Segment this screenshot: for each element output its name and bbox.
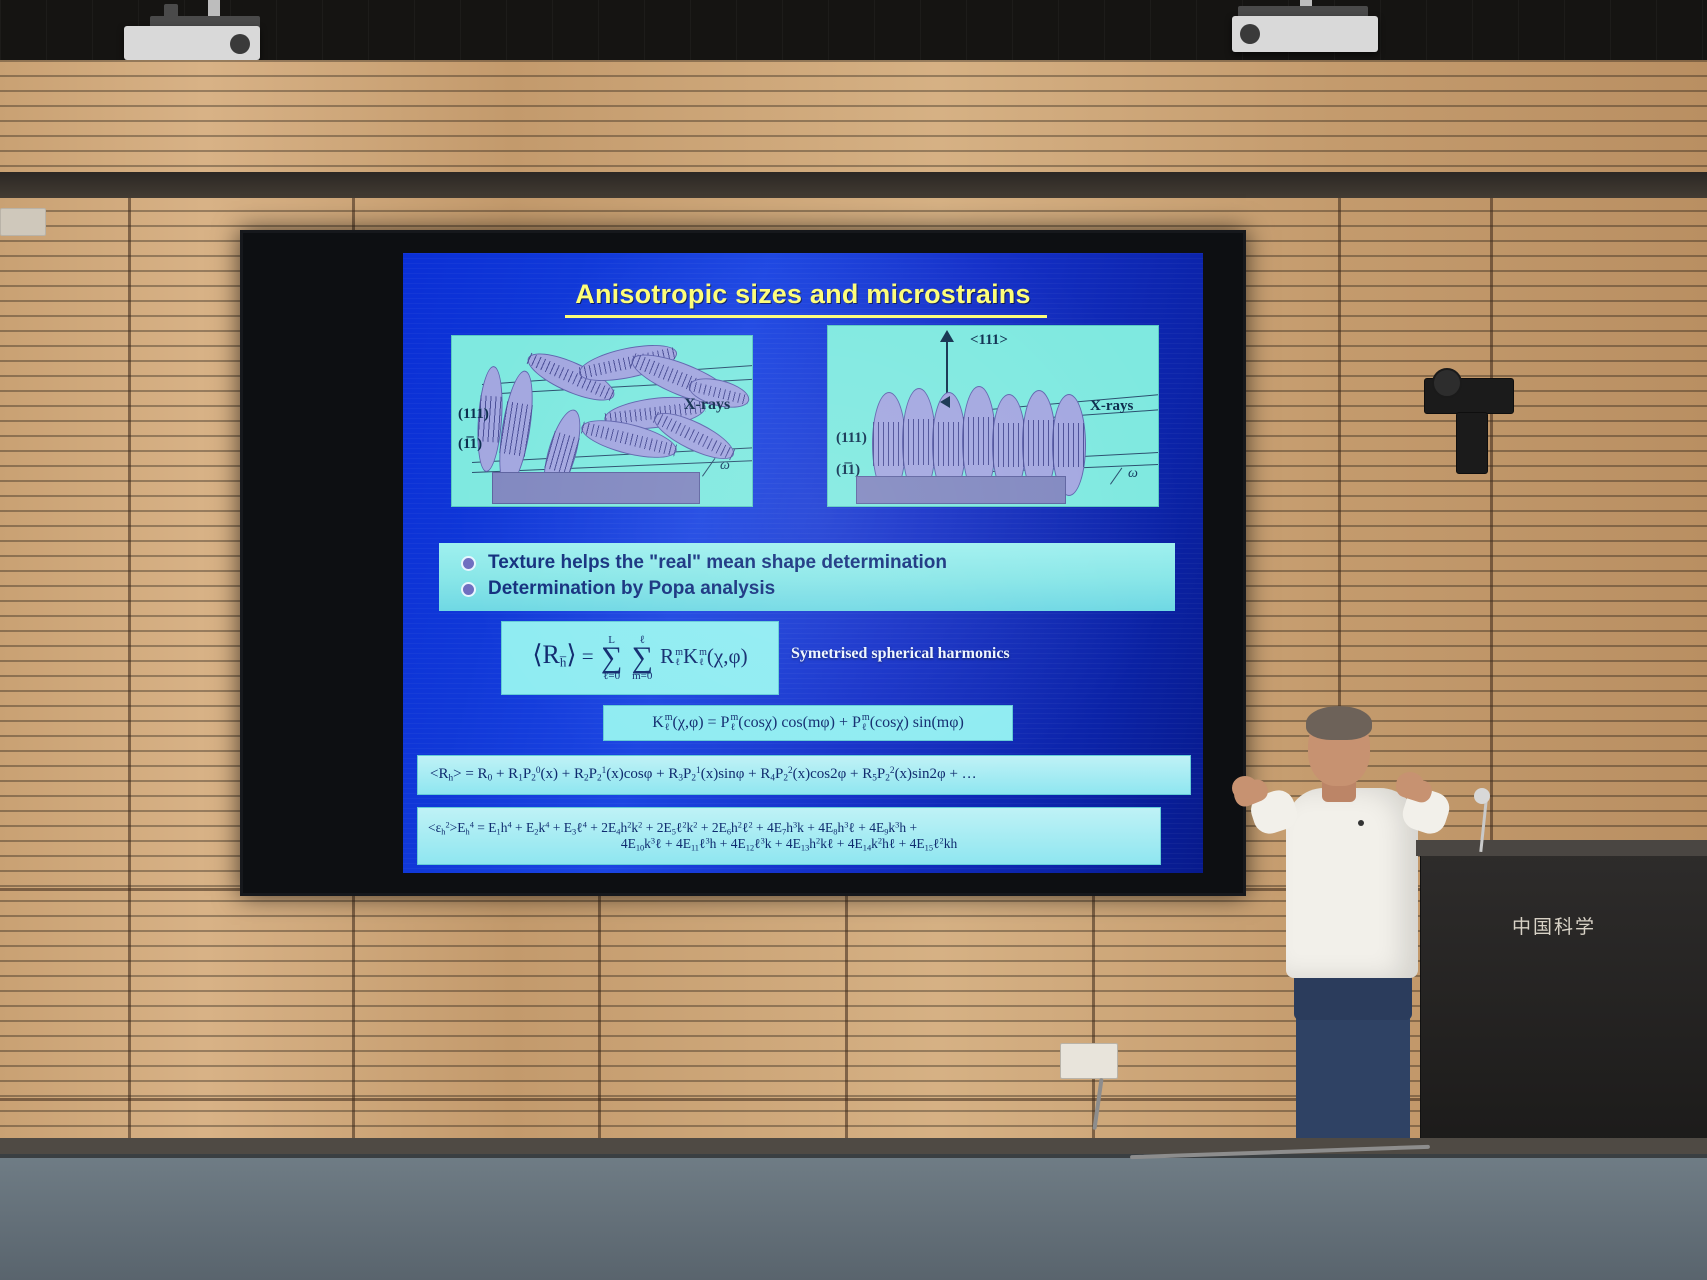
right-diagram-xray-label: X-rays bbox=[1090, 398, 1133, 415]
presenter-hand-left bbox=[1232, 776, 1258, 800]
equation-microstrain-expansion: <εh2>Eh4 = E1h4 + E2k4 + E3ℓ4 + 2E4h2k2 … bbox=[417, 807, 1161, 865]
podium-microphone-head bbox=[1474, 788, 1490, 804]
slide-title: Anisotropic sizes and microstrains bbox=[403, 279, 1203, 310]
equation-4-line-2: 4E10k3ℓ + 4E11ℓ3h + 4E12ℓ3k + 4E13h2kℓ +… bbox=[418, 836, 1160, 852]
floor bbox=[0, 1158, 1707, 1280]
eq2-cos-part: (cosχ) cos(mφ) + bbox=[738, 714, 852, 731]
eq1-sum2-bot: m=0 bbox=[632, 670, 652, 682]
sigma-icon: ∑ bbox=[632, 646, 653, 670]
eq1-sum1-bot: ℓ=0 bbox=[603, 670, 620, 682]
presenter-hand-right bbox=[1396, 772, 1424, 798]
podium-top-surface bbox=[1416, 840, 1707, 856]
grain-hatch bbox=[963, 417, 995, 465]
list-item: Determination by Popa analysis bbox=[439, 576, 1175, 602]
harmonics-caption: Symetrised spherical harmonics bbox=[791, 645, 1010, 663]
grain-hatch bbox=[499, 402, 533, 456]
projector-left-lens bbox=[230, 34, 250, 54]
wall-upper-trim bbox=[0, 172, 1707, 198]
podium-body bbox=[1420, 848, 1707, 1150]
diagram-textured-orientation: <111> (111) (1̅1) X-rays ω bbox=[827, 325, 1159, 507]
direction-arrow-shaft bbox=[946, 336, 948, 398]
right-diagram-label-111: (111) bbox=[836, 430, 867, 447]
wall-seam-4 bbox=[845, 890, 848, 1160]
bullet-dot-icon bbox=[461, 556, 476, 571]
equation-4-line-1: <εh2>Eh4 = E1h4 + E2k4 + E3ℓ4 + 2E4h2k2 … bbox=[418, 820, 1160, 836]
presentation-slide: Anisotropic sizes and microstrains bbox=[403, 253, 1203, 873]
wall-camera-lens-icon bbox=[1432, 368, 1462, 398]
slide-title-underline bbox=[565, 315, 1047, 318]
eq2-K-indices: mℓ bbox=[665, 713, 673, 733]
grain-hatch bbox=[1053, 423, 1085, 467]
eq1-equals: = bbox=[582, 644, 599, 668]
eq1-lhs: ⟨R bbox=[532, 640, 560, 669]
grain-hatch bbox=[993, 423, 1025, 467]
projection-screen: Anisotropic sizes and microstrains bbox=[240, 230, 1246, 896]
sigma-icon: ∑ bbox=[601, 646, 622, 670]
wall-seam-1 bbox=[128, 198, 131, 1160]
bullet-text: Determination by Popa analysis bbox=[488, 578, 775, 600]
projector-right-lens bbox=[1240, 24, 1260, 44]
eq1-term-R: R bbox=[660, 644, 674, 668]
diagram-random-orientation: (111) (1̅1) X-rays ω bbox=[451, 335, 753, 507]
eq1-sum-inner: ℓ ∑ m=0 bbox=[632, 634, 653, 682]
podium-logo-text: 中国科学 bbox=[1512, 912, 1596, 939]
left-diagram-omega-label: ω bbox=[720, 458, 730, 474]
equation-spherical-harmonics: ⟨Rh̅⟩ = L ∑ ℓ=0 ℓ ∑ m=0 RmℓKmℓ(χ,φ) bbox=[501, 621, 779, 695]
wall-seam-3 bbox=[598, 890, 601, 1160]
eq1-sum-outer: L ∑ ℓ=0 bbox=[601, 634, 622, 682]
eq1-term-K: K bbox=[683, 644, 698, 668]
right-diagram-direction-label: <111> bbox=[970, 332, 1008, 349]
equation-2-content: Kmℓ(χ,φ) = Pmℓ(cosχ) cos(mφ) + Pmℓ(cosχ)… bbox=[652, 713, 964, 733]
list-item: Texture helps the "real" mean shape dete… bbox=[439, 550, 1175, 576]
omega-angle-mark bbox=[702, 458, 715, 477]
eq2-P2: P bbox=[852, 714, 861, 731]
substrate-block bbox=[492, 472, 700, 504]
equation-K-definition: Kmℓ(χ,φ) = Pmℓ(cosχ) cos(mφ) + Pmℓ(cosχ)… bbox=[603, 705, 1013, 741]
eq1-K-indices: mℓ bbox=[699, 648, 707, 668]
equation-R-expansion: <Rh> = R0 + R1P20(x) + R2P21(x)cosφ + R3… bbox=[417, 755, 1191, 795]
bullet-dot-icon bbox=[461, 582, 476, 597]
eq2-args: (χ,φ) = bbox=[673, 714, 721, 731]
eq2-P2-indices: mℓ bbox=[862, 713, 870, 733]
bullet-list: Texture helps the "real" mean shape dete… bbox=[439, 543, 1175, 611]
left-diagram-label-111: (111) bbox=[458, 406, 489, 423]
eq2-K: K bbox=[652, 714, 664, 731]
eq1-R-indices: mℓ bbox=[675, 648, 683, 668]
substrate-block bbox=[856, 476, 1066, 504]
wall-outlet-plate-left bbox=[0, 208, 46, 236]
eq1-lhs-close: ⟩ bbox=[566, 640, 576, 669]
wall-speaker-box bbox=[1456, 412, 1488, 474]
presenter-hair bbox=[1306, 706, 1372, 740]
presenter-shirt bbox=[1286, 788, 1418, 978]
bullet-text: Texture helps the "real" mean shape dete… bbox=[488, 552, 947, 574]
incoming-ray-arrow bbox=[940, 396, 950, 408]
right-diagram-omega-label: ω bbox=[1128, 466, 1138, 482]
eq2-P1: P bbox=[721, 714, 730, 731]
grain-hatch bbox=[873, 422, 905, 467]
eq2-sin-part: (cosχ) sin(mφ) bbox=[870, 714, 964, 731]
grain-hatch bbox=[903, 419, 935, 466]
left-diagram-xray-label: X-rays bbox=[684, 396, 730, 414]
left-diagram-label-1m11: (1̅1) bbox=[458, 436, 482, 453]
equation-1-content: ⟨Rh̅⟩ = L ∑ ℓ=0 ℓ ∑ m=0 RmℓKmℓ(χ,φ) bbox=[532, 634, 747, 682]
equation-3-content: <Rh> = R0 + R1P20(x) + R2P21(x)cosφ + R3… bbox=[418, 766, 977, 784]
omega-angle-mark bbox=[1110, 468, 1122, 485]
projector-left-vent bbox=[164, 4, 178, 18]
direction-arrow-head bbox=[940, 330, 954, 342]
lapel-microphone-icon bbox=[1358, 820, 1364, 826]
lecture-hall-photo: Anisotropic sizes and microstrains bbox=[0, 0, 1707, 1280]
eq1-args: (χ,φ) bbox=[707, 644, 748, 668]
wall-outlet-plate bbox=[1060, 1043, 1118, 1079]
grain-hatch bbox=[933, 422, 965, 467]
grain-hatch bbox=[1023, 420, 1055, 466]
